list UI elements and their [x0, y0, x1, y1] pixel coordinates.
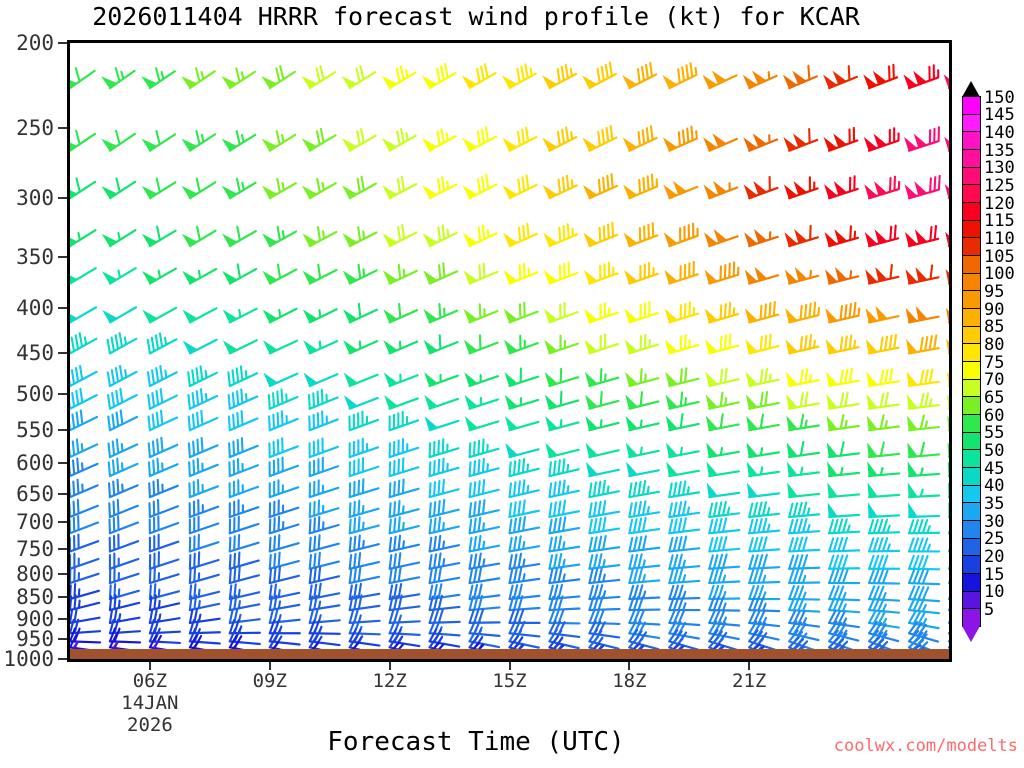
wind-barb	[544, 176, 577, 199]
wind-barb	[70, 410, 97, 430]
wind-barb	[746, 268, 778, 283]
wind-barb	[788, 463, 819, 476]
pressure-tick-label: 850	[16, 585, 54, 609]
colorbar-segment	[962, 467, 981, 486]
wind-barb	[385, 341, 418, 353]
wind-barb	[707, 444, 739, 457]
wind-barb	[709, 569, 739, 583]
wind-barb	[704, 135, 737, 151]
wind-barb	[589, 501, 619, 517]
wind-barb-row	[70, 223, 949, 246]
wind-barb	[948, 394, 949, 409]
wind-barb	[505, 369, 538, 386]
wind-barb	[707, 463, 739, 476]
wind-barb	[390, 568, 419, 583]
wind-barb	[230, 517, 259, 534]
wind-barb	[310, 535, 339, 551]
wind-barb	[709, 518, 739, 533]
wind-barb	[350, 553, 379, 569]
wind-barb	[425, 396, 458, 408]
wind-barb	[868, 415, 899, 430]
wind-barb	[583, 63, 616, 89]
wind-barb	[464, 226, 497, 247]
page-title: 2026011404 HRRR forecast wind profile (k…	[0, 2, 952, 31]
colorbar-bottom-arrow	[962, 626, 980, 642]
pressure-tick-label: 400	[16, 296, 54, 320]
wind-barb	[828, 463, 859, 476]
wind-barb	[909, 504, 939, 517]
time-tick-label: 15Z	[492, 670, 526, 692]
wind-barb	[748, 484, 779, 497]
wind-barb	[829, 555, 859, 568]
wind-barb-row	[70, 552, 949, 570]
wind-barb	[270, 629, 300, 645]
pressure-tick-mark	[58, 127, 67, 129]
wind-barb	[269, 438, 297, 457]
wind-barb	[905, 65, 939, 88]
wind-barb	[183, 68, 215, 88]
wind-barb	[825, 128, 858, 151]
wind-barb-layer	[70, 43, 949, 659]
wind-barb	[384, 177, 417, 198]
wind-barb	[385, 396, 418, 408]
wind-barb	[789, 537, 819, 551]
wind-barb	[664, 63, 697, 88]
wind-barb	[504, 224, 537, 246]
wind-barb	[270, 517, 299, 533]
wind-barb	[587, 463, 619, 476]
wind-barb	[345, 374, 378, 386]
wind-barb-row	[70, 302, 949, 322]
wind-barb	[188, 389, 217, 409]
wind-barb	[669, 518, 699, 533]
wind-barb	[908, 443, 939, 457]
wind-barb	[746, 302, 778, 322]
wind-barb	[430, 458, 459, 476]
colorbar-segment	[962, 273, 981, 292]
wind-barb	[343, 66, 375, 88]
wind-barb	[626, 392, 658, 409]
wind-barb	[103, 230, 135, 246]
wind-barb	[184, 269, 217, 284]
wind-barb	[70, 459, 97, 476]
wind-barb	[464, 264, 497, 284]
wind-barb	[908, 416, 939, 431]
wind-barb	[463, 64, 495, 88]
wind-barb	[787, 392, 819, 408]
wind-barb	[343, 177, 376, 198]
wind-barb	[270, 500, 299, 517]
wind-barb	[70, 500, 98, 517]
wind-barb	[383, 66, 415, 88]
wind-barb	[184, 340, 217, 354]
colorbar-segment	[962, 237, 981, 256]
wind-barb	[70, 178, 95, 198]
wind-barb	[103, 268, 135, 283]
wind-barb	[666, 368, 698, 386]
wind-barb	[144, 308, 177, 323]
pressure-tick-mark	[58, 638, 67, 640]
wind-barb	[709, 537, 739, 552]
wind-barb	[303, 66, 335, 88]
wind-barb	[745, 231, 778, 247]
wind-barb	[263, 227, 296, 246]
wind-barb	[270, 480, 298, 497]
wind-barb	[264, 265, 297, 284]
wind-barb	[826, 303, 859, 322]
wind-barb	[866, 265, 898, 284]
wind-barb	[229, 411, 258, 430]
wind-barb	[786, 303, 819, 323]
time-tick-hour: 18Z	[612, 670, 646, 692]
wind-barb	[827, 415, 859, 430]
wind-barb	[827, 393, 859, 409]
wind-barb	[946, 176, 949, 198]
time-tick-label: 12Z	[372, 670, 406, 692]
wind-barb	[629, 501, 659, 517]
wind-barb	[190, 552, 219, 568]
wind-barb	[143, 227, 175, 246]
wind-barb	[310, 501, 339, 517]
wind-barb	[423, 64, 455, 88]
wind-barb	[747, 463, 779, 476]
wind-barb	[869, 570, 899, 583]
wind-barb	[110, 554, 138, 569]
wind-barb	[344, 341, 377, 353]
wind-barb	[430, 629, 460, 646]
wind-barb	[264, 374, 297, 386]
wind-barb	[664, 127, 697, 151]
wind-barb	[510, 500, 539, 517]
wind-barb	[310, 553, 339, 569]
wind-barb	[510, 480, 539, 497]
colorbar-segment	[962, 149, 981, 168]
wind-barb	[309, 411, 337, 430]
wind-barb	[546, 369, 578, 386]
wind-barb	[510, 459, 539, 476]
wind-barb-row	[70, 126, 949, 151]
wind-barb	[224, 309, 257, 323]
wind-barb	[785, 226, 817, 246]
time-tick-date: 14JAN	[121, 692, 178, 714]
colorbar-segment	[962, 502, 981, 521]
colorbar-segment	[962, 573, 981, 592]
wind-barb	[505, 264, 538, 284]
time-tick-mark	[269, 662, 271, 670]
wind-barb	[826, 335, 858, 353]
wind-barb-row	[70, 500, 949, 517]
wind-barb	[589, 536, 619, 551]
time-tick-label: 21Z	[732, 670, 766, 692]
wind-barb	[506, 396, 538, 408]
wind-barb	[304, 309, 337, 322]
wind-barb	[350, 501, 379, 517]
wind-barb	[506, 444, 538, 457]
wind-barb	[706, 334, 738, 353]
wind-barb	[70, 131, 95, 151]
wind-barb	[705, 262, 738, 283]
wind-barb	[149, 480, 178, 497]
wind-barb	[430, 439, 459, 457]
wind-barb	[470, 568, 500, 583]
wind-barb	[425, 335, 458, 353]
wind-barb	[586, 369, 618, 386]
wind-barb	[744, 72, 777, 88]
wind-barb	[707, 393, 739, 409]
colorbar-segment	[962, 608, 981, 627]
wind-barb	[70, 366, 96, 386]
wind-barb	[747, 444, 779, 457]
wind-barb	[70, 439, 97, 457]
wind-barb	[627, 463, 659, 476]
wind-barb	[270, 535, 299, 551]
wind-barb	[505, 303, 538, 323]
wind-barb	[504, 175, 537, 198]
wind-barb	[70, 389, 97, 409]
wind-barb	[829, 570, 859, 583]
wind-barb	[350, 584, 380, 599]
wind-barb	[786, 335, 818, 353]
wind-barb-row	[70, 410, 949, 430]
wind-barb	[549, 501, 578, 517]
wind-barb	[230, 567, 259, 583]
wind-barb	[385, 374, 418, 386]
wind-barb	[229, 389, 258, 408]
wind-barb	[866, 308, 898, 323]
wind-barb	[269, 411, 298, 430]
wind-barb	[390, 412, 418, 430]
wind-barb	[629, 518, 659, 533]
wind-barb	[305, 374, 338, 386]
wind-barb	[709, 555, 739, 569]
wind-barb-row	[70, 366, 949, 386]
wind-barb	[549, 481, 578, 498]
wind-barb	[190, 568, 219, 583]
wind-barb	[304, 341, 337, 353]
wind-barb	[264, 309, 297, 323]
wind-barb	[629, 481, 659, 497]
wind-barb	[304, 227, 337, 246]
wind-barb	[909, 570, 939, 584]
wind-barb	[224, 264, 257, 283]
wind-barb	[109, 480, 138, 497]
wind-barb	[270, 567, 299, 583]
wind-barb	[430, 536, 459, 552]
colorbar-segment	[962, 220, 981, 239]
time-tick-mark	[149, 662, 151, 670]
wind-barb	[749, 570, 779, 583]
wind-barb	[109, 516, 137, 533]
wind-barb	[586, 392, 618, 409]
time-tick-label: 18Z	[612, 670, 646, 692]
wind-barb	[103, 178, 135, 198]
colorbar-segment	[962, 114, 981, 133]
wind-barb	[70, 230, 95, 246]
wind-barb	[390, 480, 419, 498]
wind-barb	[70, 268, 96, 283]
wind-barb	[143, 131, 175, 151]
wind-barb	[108, 366, 137, 386]
wind-barb	[349, 412, 377, 430]
wind-barb	[669, 569, 699, 583]
wind-barb	[189, 438, 218, 457]
wind-barb	[623, 63, 656, 88]
wind-barb	[230, 500, 258, 517]
wind-barb	[350, 567, 379, 583]
wind-barb	[865, 128, 899, 150]
wind-barb	[228, 366, 257, 386]
colorbar-segment	[962, 202, 981, 221]
wind-barb	[506, 418, 538, 430]
wind-barb	[425, 374, 458, 386]
wind-barb	[744, 135, 777, 151]
colorbar-segment	[962, 343, 981, 362]
wind-barb	[749, 519, 779, 534]
wind-barb	[828, 504, 859, 517]
colorbar-segment	[962, 485, 981, 504]
wind-barb	[384, 304, 417, 322]
wind-barb-row	[70, 458, 949, 476]
wind-barb	[789, 502, 819, 517]
wind-barb	[344, 227, 377, 246]
wind-barb	[70, 568, 99, 583]
wind-barb	[544, 224, 577, 246]
wind-barb	[345, 397, 378, 409]
pressure-tick-label: 700	[16, 510, 54, 534]
pressure-tick-label: 750	[16, 537, 54, 561]
wind-barb	[667, 444, 699, 457]
pressure-tick-label: 250	[16, 116, 54, 140]
wind-barb	[789, 519, 819, 533]
wind-barb	[626, 418, 658, 431]
wind-barb	[229, 438, 258, 457]
pressure-tick-mark	[58, 573, 67, 575]
wind-barb	[470, 554, 500, 569]
wind-barb	[189, 459, 218, 476]
wind-barb	[789, 570, 819, 583]
wind-barb	[907, 370, 939, 386]
wind-barb	[470, 459, 499, 476]
time-tick-hour: 15Z	[492, 670, 526, 692]
colorbar-segment	[962, 414, 981, 433]
wind-barb	[546, 392, 578, 409]
wind-barb	[787, 369, 819, 386]
wind-barb	[824, 66, 857, 88]
wind-barb	[190, 584, 219, 599]
wind-barb	[103, 307, 135, 322]
wind-barb	[546, 444, 578, 457]
wind-barb	[629, 536, 659, 551]
wind-barb	[549, 517, 579, 533]
wind-barb	[350, 479, 379, 497]
time-tick-label: 09Z	[253, 670, 287, 692]
color-scale-legend: 1501451401351301251201151101051009590858…	[962, 96, 981, 626]
wind-barb	[223, 227, 255, 246]
wind-barb	[470, 440, 499, 458]
wind-barb	[585, 223, 618, 246]
wind-barb	[585, 335, 618, 354]
wind-barb	[747, 369, 779, 386]
wind-barb	[143, 68, 175, 88]
wind-barb	[70, 584, 99, 599]
wind-barb	[625, 223, 658, 246]
wind-barb	[230, 553, 259, 569]
pressure-tick-mark	[58, 462, 67, 464]
wind-barb	[625, 302, 658, 322]
wind-barb-row	[70, 333, 949, 353]
wind-barb	[908, 463, 939, 476]
wind-barb	[625, 263, 658, 284]
wind-barb	[223, 131, 255, 151]
wind-barb	[868, 484, 899, 497]
wind-barb	[188, 366, 217, 386]
wind-barb	[230, 535, 259, 551]
wind-barb	[586, 444, 618, 457]
wind-barb	[310, 629, 340, 645]
wind-barb	[108, 333, 137, 353]
wind-barb	[747, 392, 779, 409]
colorbar-segment	[962, 131, 981, 150]
wind-barb	[303, 129, 335, 151]
wind-barb	[545, 336, 578, 354]
wind-barb	[829, 519, 859, 533]
wind-barb	[669, 502, 699, 517]
wind-barb	[149, 500, 177, 517]
wind-barb	[310, 439, 338, 457]
wind-barb	[624, 175, 657, 199]
wind-barb	[70, 68, 95, 88]
wind-barb	[906, 265, 938, 283]
wind-barb	[549, 554, 579, 569]
wind-barb	[148, 333, 177, 353]
wind-barb	[183, 131, 215, 151]
wind-barb	[150, 552, 179, 569]
wind-barb	[788, 484, 819, 497]
wind-barb	[787, 442, 819, 457]
colorbar-segment	[962, 167, 981, 186]
wind-barb	[629, 554, 659, 568]
wind-barb	[546, 418, 578, 431]
wind-barb	[705, 230, 738, 246]
wind-barb	[669, 537, 699, 552]
pressure-tick-mark	[58, 658, 67, 660]
wind-barb	[549, 459, 578, 476]
wind-barb	[665, 224, 698, 246]
wind-barb	[704, 72, 737, 88]
wind-barb	[350, 517, 379, 533]
wind-barb	[709, 502, 739, 517]
wind-barb	[706, 369, 738, 386]
wind-barb	[624, 126, 657, 150]
pressure-tick-mark	[58, 521, 67, 523]
wind-barb-row	[70, 174, 949, 198]
wind-barb	[390, 458, 419, 476]
wind-barb	[390, 517, 419, 533]
pressure-tick-label: 350	[16, 245, 54, 269]
wind-barb	[470, 500, 499, 517]
wind-barb	[390, 536, 419, 552]
wind-barb	[666, 303, 698, 323]
wind-barb	[430, 553, 459, 568]
wind-barb	[749, 537, 779, 551]
colorbar-segment	[962, 538, 981, 557]
wind-barb	[310, 480, 339, 497]
wind-barb	[423, 129, 456, 150]
wind-barb	[190, 535, 219, 552]
wind-barb	[504, 128, 537, 151]
pressure-tick-label: 500	[16, 382, 54, 406]
time-tick-hour: 09Z	[253, 670, 287, 692]
